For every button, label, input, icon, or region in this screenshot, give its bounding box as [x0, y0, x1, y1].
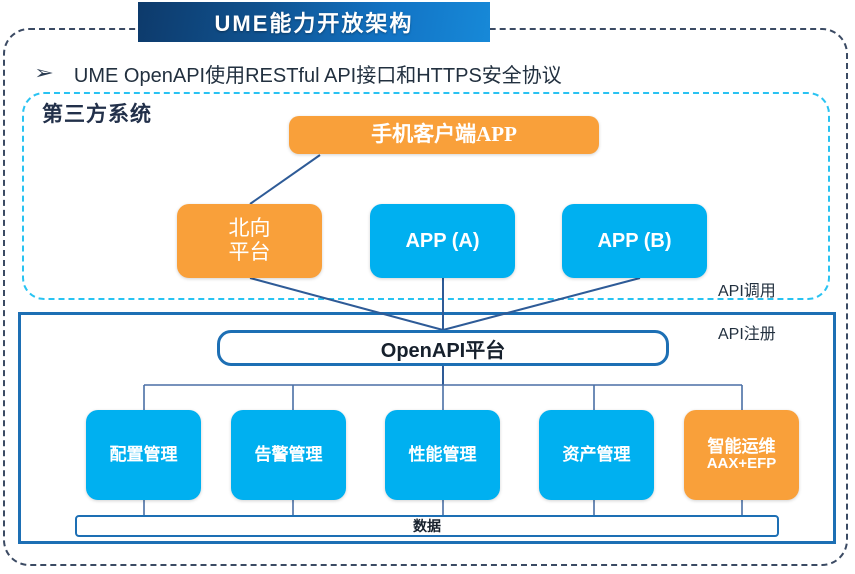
node-data-bar-label: 数据: [413, 516, 441, 536]
arrow-bullet-icon: ➢: [34, 64, 54, 83]
page-title: UME能力开放架构: [215, 6, 414, 38]
node-module-aiops-sublabel: AAX+EFP: [707, 456, 777, 473]
node-module-alarm[interactable]: 告警管理: [231, 410, 346, 500]
node-openapi-platform-label: OpenAPI平台: [381, 334, 505, 363]
node-app-a[interactable]: APP (A): [370, 204, 515, 278]
node-module-config-label: 配置管理: [110, 445, 178, 464]
third-party-system-label: 第三方系统: [42, 98, 152, 128]
node-app-a-label: APP (A): [405, 230, 479, 252]
api-call-label: API调用: [718, 277, 776, 301]
node-module-performance[interactable]: 性能管理: [385, 410, 500, 500]
node-module-asset[interactable]: 资产管理: [539, 410, 654, 500]
node-module-config[interactable]: 配置管理: [86, 410, 201, 500]
bullet-text: UME OpenAPI使用RESTful API接口和HTTPS安全协议: [74, 59, 562, 88]
diagram-canvas: UME能力开放架构 ➢ UME OpenAPI使用RESTful API接口和H…: [0, 0, 855, 574]
node-module-asset-label: 资产管理: [563, 445, 631, 464]
api-register-label: API注册: [718, 320, 776, 344]
diagram-title-banner: UME能力开放架构: [138, 2, 490, 42]
node-module-alarm-label: 告警管理: [255, 445, 323, 464]
node-mobile-client-app[interactable]: 手机客户端APP: [289, 116, 599, 154]
node-openapi-platform[interactable]: OpenAPI平台: [217, 330, 669, 366]
node-data-bar[interactable]: 数据: [75, 515, 779, 537]
node-module-aiops-label: 智能运维: [708, 437, 776, 456]
node-northbound-platform-line2: 平台: [229, 241, 271, 265]
wire-appb-to-openapi: [443, 278, 640, 330]
bullet-row: ➢ UME OpenAPI使用RESTful API接口和HTTPS安全协议: [36, 58, 796, 88]
node-mobile-client-app-label: 手机客户端APP: [371, 123, 517, 147]
node-app-b-label: APP (B): [597, 230, 671, 252]
node-module-performance-label: 性能管理: [409, 445, 477, 464]
node-module-aiops[interactable]: 智能运维 AAX+EFP: [684, 410, 799, 500]
wire-north-to-openapi: [250, 278, 443, 330]
node-northbound-platform-line1: 北向: [229, 217, 271, 241]
node-app-b[interactable]: APP (B): [562, 204, 707, 278]
node-northbound-platform[interactable]: 北向 平台: [177, 204, 322, 278]
wire-mobile-to-north: [250, 155, 320, 204]
